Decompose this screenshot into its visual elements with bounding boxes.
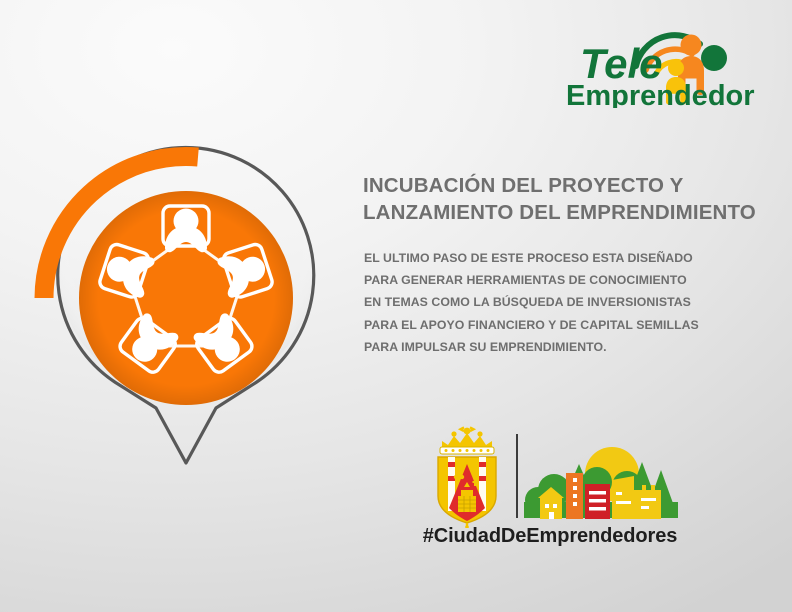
emblem-divider xyxy=(516,434,518,518)
tele-emprendedor-logo: Tele Emprendedor xyxy=(566,22,782,108)
city-skyline-icon xyxy=(524,446,678,524)
headline-line-1: INCUBACIÓN DEL PROYECTO Y xyxy=(363,172,773,199)
body-line-3: EN TEMAS COMO LA BÚSQUEDA DE INVERSIONIS… xyxy=(364,291,764,313)
body-line-2: PARA GENERAR HERRAMIENTAS DE CONOCIMIENT… xyxy=(364,269,764,291)
crest-crown xyxy=(440,427,494,454)
crest-shield xyxy=(438,457,496,528)
hashtag-text: #CiudadDeEmprendedores xyxy=(360,525,740,548)
footer-emblems xyxy=(420,424,680,530)
logo-text-emprendedor: Emprendedor xyxy=(566,80,755,108)
body-line-1: EL ULTIMO PASO DE ESTE PROCESO ESTA DISE… xyxy=(364,247,764,269)
headline-line-2: LANZAMIENTO DEL EMPRENDIMIENTO xyxy=(363,199,773,226)
logo-green-dot-icon xyxy=(701,45,727,71)
page-title: INCUBACIÓN DEL PROYECTO Y LANZAMIENTO DE… xyxy=(363,172,773,226)
body-line-4: PARA EL APOYO FINANCIERO Y DE CAPITAL SE… xyxy=(364,314,764,336)
people-network-pin-graphic xyxy=(30,112,350,482)
body-copy: EL ULTIMO PASO DE ESTE PROCESO ESTA DISE… xyxy=(364,247,764,358)
body-line-5: PARA IMPULSAR SU EMPRENDIMIENTO. xyxy=(364,336,764,358)
bogota-coat-of-arms-icon xyxy=(428,424,506,528)
slide-canvas: Tele Emprendedor xyxy=(0,0,792,612)
